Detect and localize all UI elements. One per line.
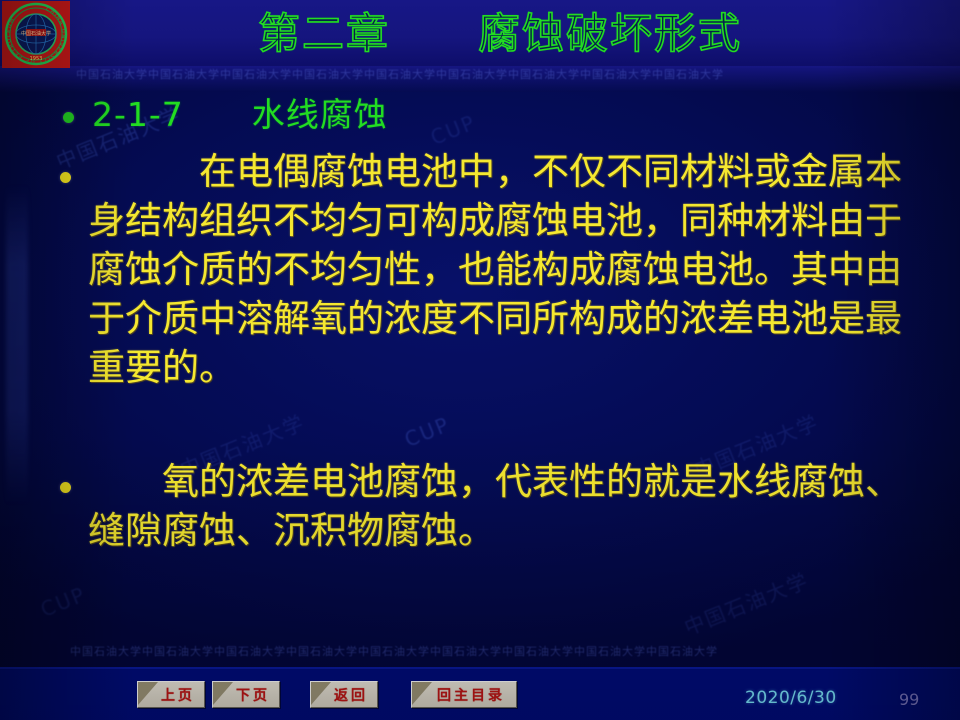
bullet-green-icon <box>63 112 74 123</box>
slide-page-number: 99 <box>899 690 919 709</box>
header-fade <box>0 66 960 92</box>
slide-title: 第二章 腐蚀破坏形式 <box>0 7 960 61</box>
body-paragraph: 氧的浓差电池腐蚀，代表性的就是水线腐蚀、缝隙腐蚀、沉积物腐蚀。 <box>88 457 916 555</box>
bullet-yellow-icon <box>60 482 71 493</box>
back-button[interactable]: 返回 <box>310 681 378 708</box>
slide-body: 2-1-7 水线腐蚀 在电偶腐蚀电池中，不仅不同材料或金属本身结构组织不均匀可构… <box>0 92 960 652</box>
presentation-slide: 中国石油大学中国石油大学中国石油大学中国石油大学中国石油大学中国石油大学中国石油… <box>0 0 960 720</box>
main-menu-button[interactable]: 回主目录 <box>411 681 517 708</box>
slide-date: 2020/6/30 <box>745 688 837 708</box>
bullet-yellow-icon <box>60 172 71 183</box>
next-page-label: 下页 <box>222 685 270 705</box>
main-menu-label: 回主目录 <box>423 685 505 705</box>
back-label: 返回 <box>320 685 368 705</box>
next-page-button[interactable]: 下页 <box>212 681 280 708</box>
body-paragraph: 在电偶腐蚀电池中，不仅不同材料或金属本身结构组织不均匀可构成腐蚀电池，同种材料由… <box>88 147 916 392</box>
prev-page-button[interactable]: 上页 <box>137 681 205 708</box>
section-heading: 2-1-7 水线腐蚀 <box>92 95 912 135</box>
prev-page-label: 上页 <box>147 685 195 705</box>
